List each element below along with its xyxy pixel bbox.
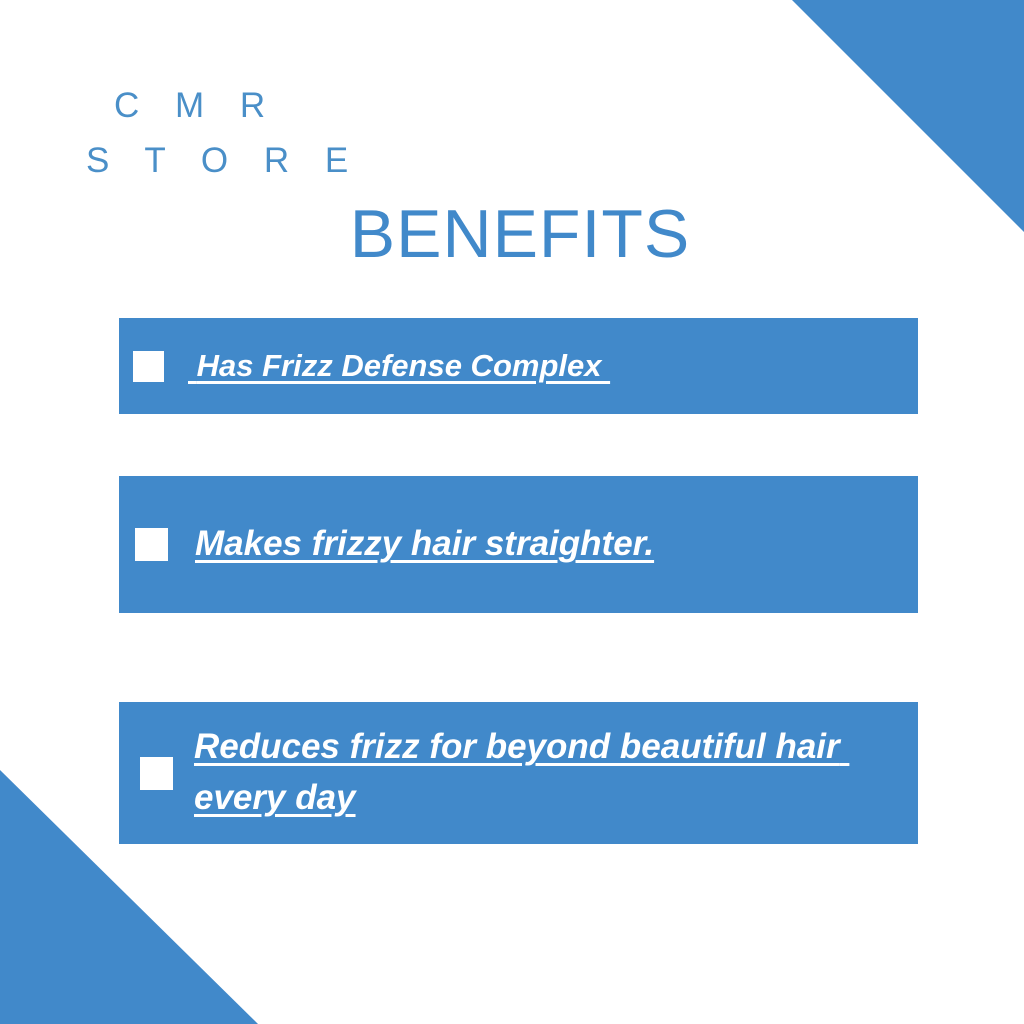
benefit-text: Reduces frizz for beyond beautiful hair … xyxy=(194,722,894,824)
benefit-text: Has Frizz Defense Complex xyxy=(188,349,610,383)
white-square-bullet-icon xyxy=(135,528,168,561)
benefit-text: Makes frizzy hair straighter. xyxy=(195,525,654,564)
brand-logo: C M R S T O R E xyxy=(86,88,361,178)
benefit-bar: Makes frizzy hair straighter. xyxy=(119,476,918,613)
page-title: BENEFITS xyxy=(0,200,1024,268)
benefit-bar: Has Frizz Defense Complex xyxy=(119,318,918,414)
blue-corner-triangle-top-right-icon xyxy=(792,0,1024,232)
promo-graphic-canvas: C M R S T O R E BENEFITS Has Frizz Defen… xyxy=(0,0,1024,1024)
white-square-bullet-icon xyxy=(140,757,173,790)
brand-logo-line-store: S T O R E xyxy=(86,143,361,178)
benefit-bar: Reduces frizz for beyond beautiful hair … xyxy=(119,702,918,844)
brand-logo-line-cmr: C M R xyxy=(114,88,361,123)
white-square-bullet-icon xyxy=(133,351,164,382)
